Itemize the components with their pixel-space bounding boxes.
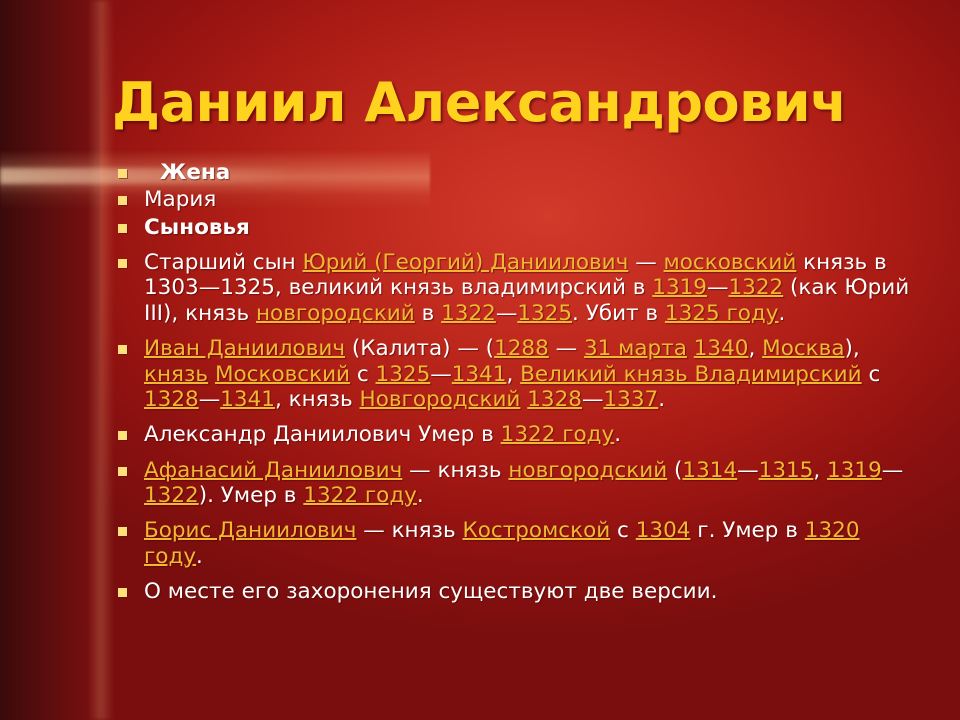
inline-link[interactable]: 1319 [827, 458, 882, 483]
square-bullet-icon [118, 579, 144, 597]
square-bullet-icon [118, 250, 144, 268]
inline-text: , [748, 336, 762, 361]
inline-link[interactable]: 1314 [682, 458, 737, 483]
square-bullet-icon [118, 422, 144, 440]
slide-content: Даниил Александрович ЖенаМарияСыновьяСта… [0, 0, 960, 720]
square-bullet-glyph [118, 345, 127, 354]
inline-link[interactable]: 1341 [220, 387, 275, 412]
inline-link[interactable]: Юрий (Георгий) Даниилович [303, 250, 629, 275]
inline-text: с [350, 362, 376, 387]
list-item: Старший сын Юрий (Георгий) Даниилович — … [118, 250, 918, 326]
slide: Даниил Александрович ЖенаМарияСыновьяСта… [0, 0, 960, 720]
list-item-text: О месте его захоронения существуют две в… [144, 579, 918, 604]
square-bullet-icon [118, 458, 144, 476]
inline-link[interactable]: 1337 [603, 387, 658, 412]
square-bullet-icon [118, 518, 144, 536]
square-bullet-glyph [118, 169, 127, 178]
inline-link[interactable]: московский [664, 250, 797, 275]
inline-link[interactable]: 1322 году [501, 422, 615, 447]
inline-text: с [862, 362, 881, 387]
inline-text: ( [667, 458, 682, 483]
inline-text: в [415, 301, 441, 326]
list-item: Мария [118, 187, 918, 212]
list-item: Александр Даниилович Умер в 1322 году. [118, 422, 918, 447]
list-item: Афанасий Даниилович — князь новгородский… [118, 458, 918, 509]
inline-link[interactable]: 1325 [376, 362, 431, 387]
inline-text: . [417, 483, 424, 508]
inline-text: . Убит в [572, 301, 665, 326]
inline-text: — [707, 275, 729, 300]
inline-text: с [610, 518, 636, 543]
inline-text: — [549, 336, 584, 361]
inline-link[interactable]: Московский [215, 362, 350, 387]
square-bullet-glyph [118, 431, 127, 440]
square-bullet-icon [118, 336, 144, 354]
inline-text: — [628, 250, 663, 275]
inline-link[interactable]: 1328 [144, 387, 199, 412]
list-item: О месте его захоронения существуют две в… [118, 579, 918, 604]
list-item-text: Афанасий Даниилович — князь новгородский… [144, 458, 918, 509]
inline-text: , [813, 458, 827, 483]
inline-link[interactable]: 1322 [441, 301, 496, 326]
inline-link[interactable]: 31 марта [584, 336, 687, 361]
inline-link[interactable]: Иван Даниилович [144, 336, 345, 361]
inline-link[interactable]: 1304 [636, 518, 691, 543]
inline-link[interactable]: Борис Даниилович [144, 518, 356, 543]
inline-text: — князь [402, 458, 508, 483]
inline-link[interactable]: Афанасий Даниилович [144, 458, 402, 483]
inline-link[interactable]: 1288 [494, 336, 549, 361]
inline-text: ). Умер в [199, 483, 304, 508]
square-bullet-glyph [118, 196, 127, 205]
square-bullet-glyph [118, 224, 127, 233]
page-title: Даниил Александрович [112, 76, 912, 130]
list-item-text: Старший сын Юрий (Георгий) Даниилович — … [144, 250, 918, 326]
list-item: Жена [118, 160, 918, 185]
inline-text: Александр Даниилович Умер в [144, 422, 501, 447]
inline-text: . [658, 387, 665, 412]
list-item-text: Жена [144, 160, 918, 185]
square-bullet-glyph [118, 527, 127, 536]
inline-link[interactable]: Новгородский [360, 387, 521, 412]
inline-link[interactable]: новгородский [508, 458, 667, 483]
inline-text: г. Умер в [690, 518, 804, 543]
inline-text: — [199, 387, 221, 412]
inline-link[interactable]: Москва [762, 336, 844, 361]
inline-link[interactable]: новгородский [256, 301, 415, 326]
inline-link[interactable]: Великий князь Владимирский [520, 362, 861, 387]
inline-link[interactable]: 1328 [527, 387, 582, 412]
inline-text: — [430, 362, 452, 387]
list-item-text: Борис Даниилович — князь Костромской с 1… [144, 518, 918, 569]
inline-link[interactable]: 1325 году [665, 301, 779, 326]
inline-text: — [582, 387, 604, 412]
inline-link[interactable]: Костромской [463, 518, 611, 543]
inline-text: Старший сын [144, 250, 303, 275]
inline-link[interactable]: 1325 [517, 301, 572, 326]
square-bullet-glyph [118, 588, 127, 597]
inline-link[interactable]: 1340 [694, 336, 749, 361]
inline-link[interactable]: 1341 [452, 362, 507, 387]
inline-text [687, 336, 694, 361]
list-item: Борис Даниилович — князь Костромской с 1… [118, 518, 918, 569]
list-item: Сыновья [118, 215, 918, 240]
inline-text: ), [845, 336, 860, 361]
bullet-list: ЖенаМарияСыновьяСтарший сын Юрий (Георги… [118, 160, 918, 606]
square-bullet-icon [118, 160, 144, 178]
inline-text: — [882, 458, 904, 483]
inline-link[interactable]: 1322 [144, 483, 199, 508]
inline-link[interactable]: 1315 [759, 458, 814, 483]
square-bullet-icon [118, 187, 144, 205]
inline-text: (Калита) — ( [345, 336, 494, 361]
inline-text: , [506, 362, 520, 387]
inline-link[interactable]: князь [144, 362, 208, 387]
list-item-text: Александр Даниилович Умер в 1322 году. [144, 422, 918, 447]
square-bullet-icon [118, 215, 144, 233]
inline-text: . [196, 544, 203, 569]
list-item: Иван Даниилович (Калита) — (1288 — 31 ма… [118, 336, 918, 412]
inline-link[interactable]: 1322 году [303, 483, 417, 508]
list-item-text: Мария [144, 187, 918, 212]
inline-text [208, 362, 215, 387]
inline-link[interactable]: 1322 [728, 275, 783, 300]
inline-text: — князь [356, 518, 462, 543]
list-item-text: Иван Даниилович (Калита) — (1288 — 31 ма… [144, 336, 918, 412]
inline-text: . [779, 301, 786, 326]
list-item-text: Сыновья [144, 215, 918, 240]
inline-link[interactable]: 1319 [652, 275, 707, 300]
inline-text: — [737, 458, 759, 483]
inline-text: , князь [275, 387, 360, 412]
square-bullet-glyph [118, 259, 127, 268]
square-bullet-glyph [118, 467, 127, 476]
inline-text: — [496, 301, 518, 326]
inline-text: . [614, 422, 621, 447]
